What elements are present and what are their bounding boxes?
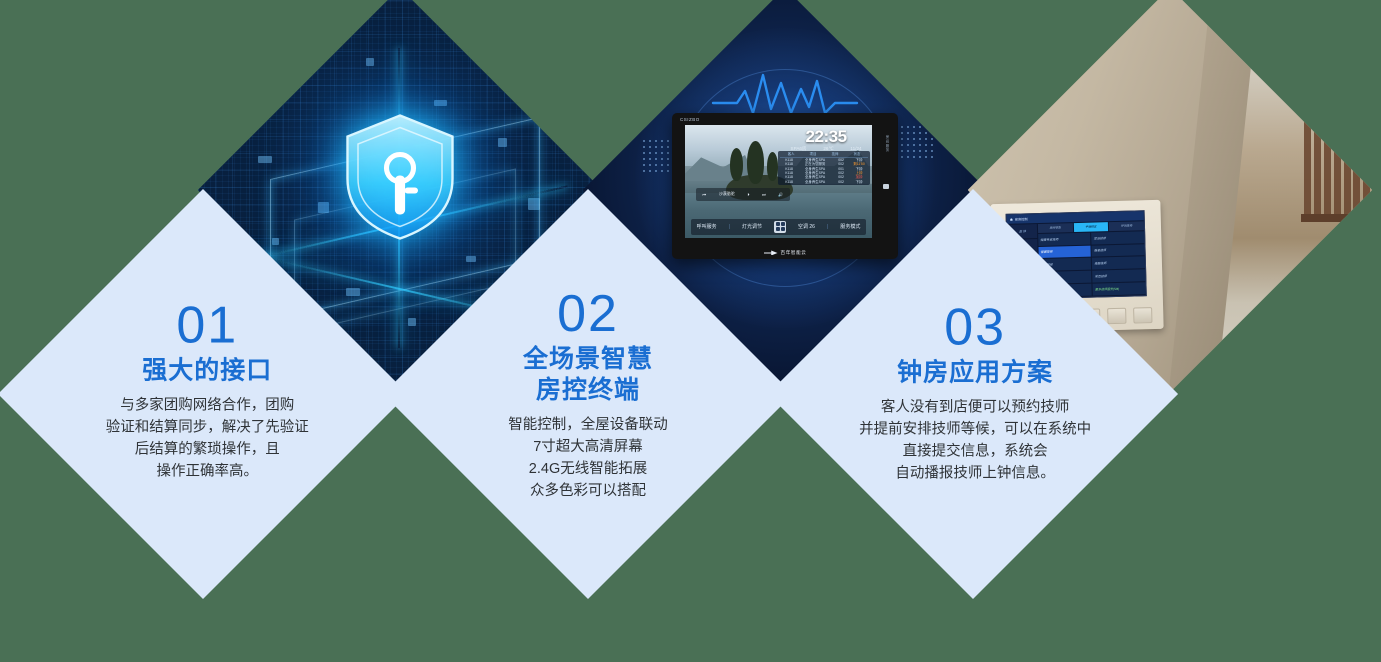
feature-description-line: 2.4G无线智能拓展 bbox=[428, 458, 748, 480]
railing-bottom-bar bbox=[1301, 214, 1372, 222]
feature-description-line: 自动播报技师上钟信息。 bbox=[815, 462, 1135, 484]
panel-title-icon: ☗ bbox=[1010, 218, 1013, 222]
th-item: 项目 bbox=[802, 152, 824, 156]
player-next-icon[interactable]: ⏭ bbox=[762, 192, 766, 197]
player-play-icon[interactable]: ⏵ bbox=[747, 192, 749, 197]
panel-title-text: 客房控制 bbox=[1015, 217, 1028, 222]
tree-1 bbox=[730, 148, 743, 182]
brand-logo-text: 百年智能云 bbox=[781, 250, 807, 256]
feature-title-line: 房控终端 bbox=[428, 375, 748, 406]
camera-icon bbox=[883, 184, 889, 189]
feature-description-line: 验证和结算同步，解决了先验证 bbox=[47, 416, 367, 438]
table-cell-c3: 002 bbox=[832, 180, 850, 184]
dock-bar[interactable]: 呼叫服务 | 灯光调节 空调 26 | 服务模式 bbox=[691, 219, 867, 235]
panel-menu-item[interactable]: 采耳技师 bbox=[1093, 270, 1146, 283]
feature-description-line: 与多家团购网络合作，团购 bbox=[47, 394, 367, 416]
feature-description-line: 7寸超大高清屏幕 bbox=[428, 436, 748, 458]
device-screen[interactable]: 22:35 SPA6房 26℃ 11/24 客人 项目 bbox=[685, 125, 872, 238]
player-volume-icon[interactable]: 🔊 bbox=[778, 192, 783, 197]
feature-number: 03 bbox=[815, 299, 1135, 355]
feature-description-line: 众多色彩可以搭配 bbox=[428, 480, 748, 502]
table-cell-c2: 全身养生SPA bbox=[798, 180, 832, 184]
th-state: 状态 bbox=[846, 152, 868, 156]
brand-logo-mark bbox=[764, 250, 778, 255]
railing-top-bar bbox=[1301, 85, 1372, 93]
device-side-strip: 房间服务 bbox=[876, 125, 893, 238]
feature-card-2-content: 02 全场景智慧房控终端 智能控制，全屋设备联动7寸超大高清屏幕2.4G无线智能… bbox=[428, 286, 748, 502]
lake-scenery-wallpaper: 22:35 SPA6房 26℃ 11/24 客人 项目 bbox=[685, 125, 872, 238]
plant-pot bbox=[1286, 362, 1338, 392]
feature-description: 客人没有到店便可以预约技师并提前安排技师等候，可以在系统中直接提交信息，系统会自… bbox=[815, 396, 1135, 484]
panel-menu-item[interactable]: 保健专家技师 bbox=[1038, 232, 1091, 245]
th-guest: 客人 bbox=[780, 152, 802, 156]
panel-menu-item[interactable]: 推拿技师 bbox=[1092, 244, 1145, 257]
potted-plant bbox=[1267, 308, 1345, 384]
home-grid-icon[interactable] bbox=[774, 221, 786, 233]
panel-key[interactable] bbox=[1108, 308, 1128, 324]
panel-menu-column-2[interactable]: 足浴技师推拿技师修脚技师采耳技师更多技师服务(5/8) bbox=[1091, 230, 1146, 296]
feature-number: 01 bbox=[47, 297, 367, 353]
feature-title-line: 全场景智慧 bbox=[428, 344, 748, 375]
panel-tab[interactable]: 手牌绑定 bbox=[1074, 222, 1109, 232]
feature-description-line: 智能控制，全屋设备联动 bbox=[428, 414, 748, 436]
dock-item-light[interactable]: 灯光调节 bbox=[742, 223, 762, 230]
panel-tab[interactable]: 呼叫技师 bbox=[1109, 221, 1144, 231]
feature-description-line: 操作正确率高。 bbox=[47, 460, 367, 482]
side-vertical-label: 房间服务 bbox=[885, 135, 890, 153]
device-footer: 百年智能云 bbox=[672, 250, 898, 256]
dock-item-ac[interactable]: 空调 26 bbox=[798, 223, 815, 230]
panel-key[interactable] bbox=[1134, 307, 1154, 323]
feature-description-line: 后结算的繁琐操作，且 bbox=[47, 438, 367, 460]
panel-menu-item[interactable]: 保健技师 bbox=[1039, 245, 1092, 258]
player-track-title: 沙漠骆驼 bbox=[719, 191, 735, 197]
wooden-railing bbox=[1301, 85, 1372, 222]
panel-menu-item[interactable]: 足浴技师 bbox=[1092, 231, 1145, 244]
dock-item-mode[interactable]: 服务模式 bbox=[840, 223, 860, 230]
tree-2 bbox=[747, 141, 764, 184]
table-cell-c4: 下钟 bbox=[850, 180, 868, 184]
panel-menu-item[interactable]: 修脚技师 bbox=[1092, 257, 1145, 270]
player-prev-icon[interactable]: ⏮ bbox=[703, 192, 707, 197]
feature-description-line: 客人没有到店便可以预约技师 bbox=[815, 396, 1135, 418]
table-cell-c1: K118 bbox=[780, 180, 798, 184]
th-tech: 技师 bbox=[824, 152, 846, 156]
diamond-feature-collage: CSIZBO 22:35 bbox=[0, 0, 1381, 603]
feature-card-1-content: 01 强大的接口 与多家团购网络合作，团购验证和结算同步，解决了先验证后结算的繁… bbox=[47, 297, 367, 482]
service-table: 客人 项目 技师 状态 K118全身养生SPA002下钟K118正在为您服务00… bbox=[778, 151, 870, 185]
feature-description: 与多家团购网络合作，团购验证和结算同步，解决了先验证后结算的繁琐操作，且操作正确… bbox=[47, 394, 367, 482]
table-row: K118全身养生SPA002下钟 bbox=[780, 180, 868, 184]
panel-tab[interactable]: 房间状态 bbox=[1038, 223, 1073, 233]
feature-title: 全场景智慧房控终端 bbox=[428, 344, 748, 406]
music-player-bar[interactable]: ⏮ 沙漠骆驼 ⏵ ⏭ 🔊 bbox=[696, 188, 790, 200]
shield-keyhole-icon bbox=[325, 100, 475, 255]
table-body: K118全身养生SPA002下钟K118正在为您服务002剩11'50K118全… bbox=[780, 158, 868, 184]
feature-card-3-content: 03 钟房应用方案 客人没有到店便可以预约技师并提前安排技师等候，可以在系统中直… bbox=[815, 299, 1135, 484]
device-brand-label: CSIZBO bbox=[680, 117, 700, 122]
clock-widget: 22:35 SPA6房 26℃ 11/24 bbox=[782, 128, 870, 152]
feature-description-line: 直接提交信息，系统会 bbox=[815, 440, 1135, 462]
panel-menu-item[interactable]: 更多技师服务(5/8) bbox=[1093, 283, 1146, 296]
touchscreen-terminal-device[interactable]: CSIZBO 22:35 bbox=[672, 113, 898, 259]
dock-item-call[interactable]: 呼叫服务 bbox=[697, 223, 717, 230]
feature-title: 强大的接口 bbox=[47, 355, 367, 386]
feature-description-line: 并提前安排技师等候，可以在系统中 bbox=[815, 418, 1135, 440]
feature-title: 钟房应用方案 bbox=[815, 357, 1135, 388]
dock-separator-1: | bbox=[729, 224, 730, 230]
dock-separator-2: | bbox=[827, 224, 828, 230]
feature-description: 智能控制，全屋设备联动7寸超大高清屏幕2.4G无线智能拓展众多色彩可以搭配 bbox=[428, 414, 748, 502]
clock-time: 22:35 bbox=[782, 128, 870, 145]
